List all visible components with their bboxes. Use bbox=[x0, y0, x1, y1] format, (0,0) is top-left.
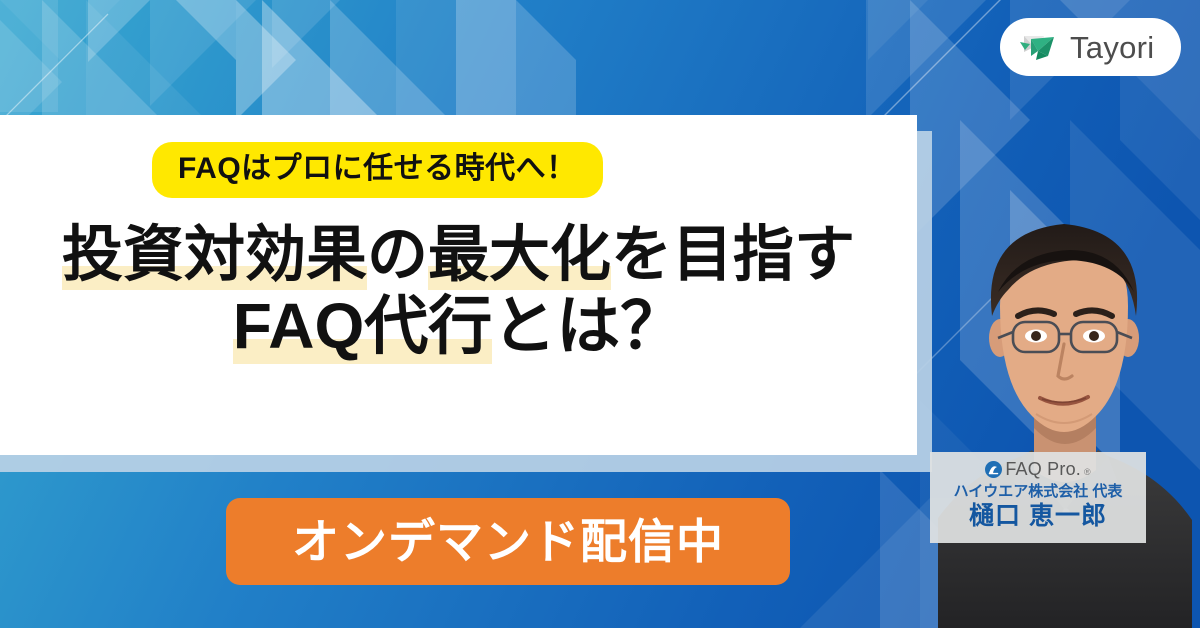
speaker-portrait bbox=[930, 188, 1200, 628]
on-demand-cta-button[interactable]: オンデマンド配信中 bbox=[226, 498, 790, 585]
headline-highlight-roi: 投資対効果 bbox=[62, 220, 367, 290]
eyebrow-badge: FAQはプロに任せる時代へ！ bbox=[152, 142, 603, 198]
speaker-nameplate: FAQ Pro. ® ハイウエア株式会社 代表 樋口 恵一郎 bbox=[930, 452, 1146, 543]
cta-label: オンデマンド配信中 bbox=[292, 518, 724, 565]
headline-plain-1: の bbox=[367, 220, 428, 288]
faq-pro-swirl-icon bbox=[985, 461, 1002, 478]
webinar-banner: Tayori FAQはプロに任せる時代へ！ 投資対効果の最大化を目指す FAQ代… bbox=[0, 0, 1200, 628]
tayori-paper-plane-icon bbox=[1018, 30, 1058, 64]
headline-line-1: 投資対効果の最大化を目指す bbox=[0, 222, 917, 287]
speaker-name: 樋口 恵一郎 bbox=[936, 503, 1140, 531]
tayori-wordmark: Tayori bbox=[1070, 32, 1155, 63]
headline-plain-3: とは？ bbox=[492, 290, 684, 362]
speaker-company-title: ハイウエア株式会社 代表 bbox=[936, 483, 1140, 500]
registered-mark: ® bbox=[1084, 467, 1091, 478]
tayori-logo-pill[interactable]: Tayori bbox=[1000, 18, 1181, 76]
headline-highlight-faq: FAQ代行 bbox=[233, 290, 493, 364]
headline-plain-2: を目指す bbox=[611, 220, 855, 288]
faq-pro-logo: FAQ Pro. ® bbox=[936, 460, 1140, 478]
headline-line-2: FAQ代行とは？ bbox=[0, 293, 917, 361]
faq-pro-wordmark: FAQ Pro. bbox=[1005, 460, 1081, 478]
page-title: 投資対効果の最大化を目指す FAQ代行とは？ bbox=[0, 222, 917, 360]
headline-highlight-max: 最大化 bbox=[428, 220, 611, 290]
